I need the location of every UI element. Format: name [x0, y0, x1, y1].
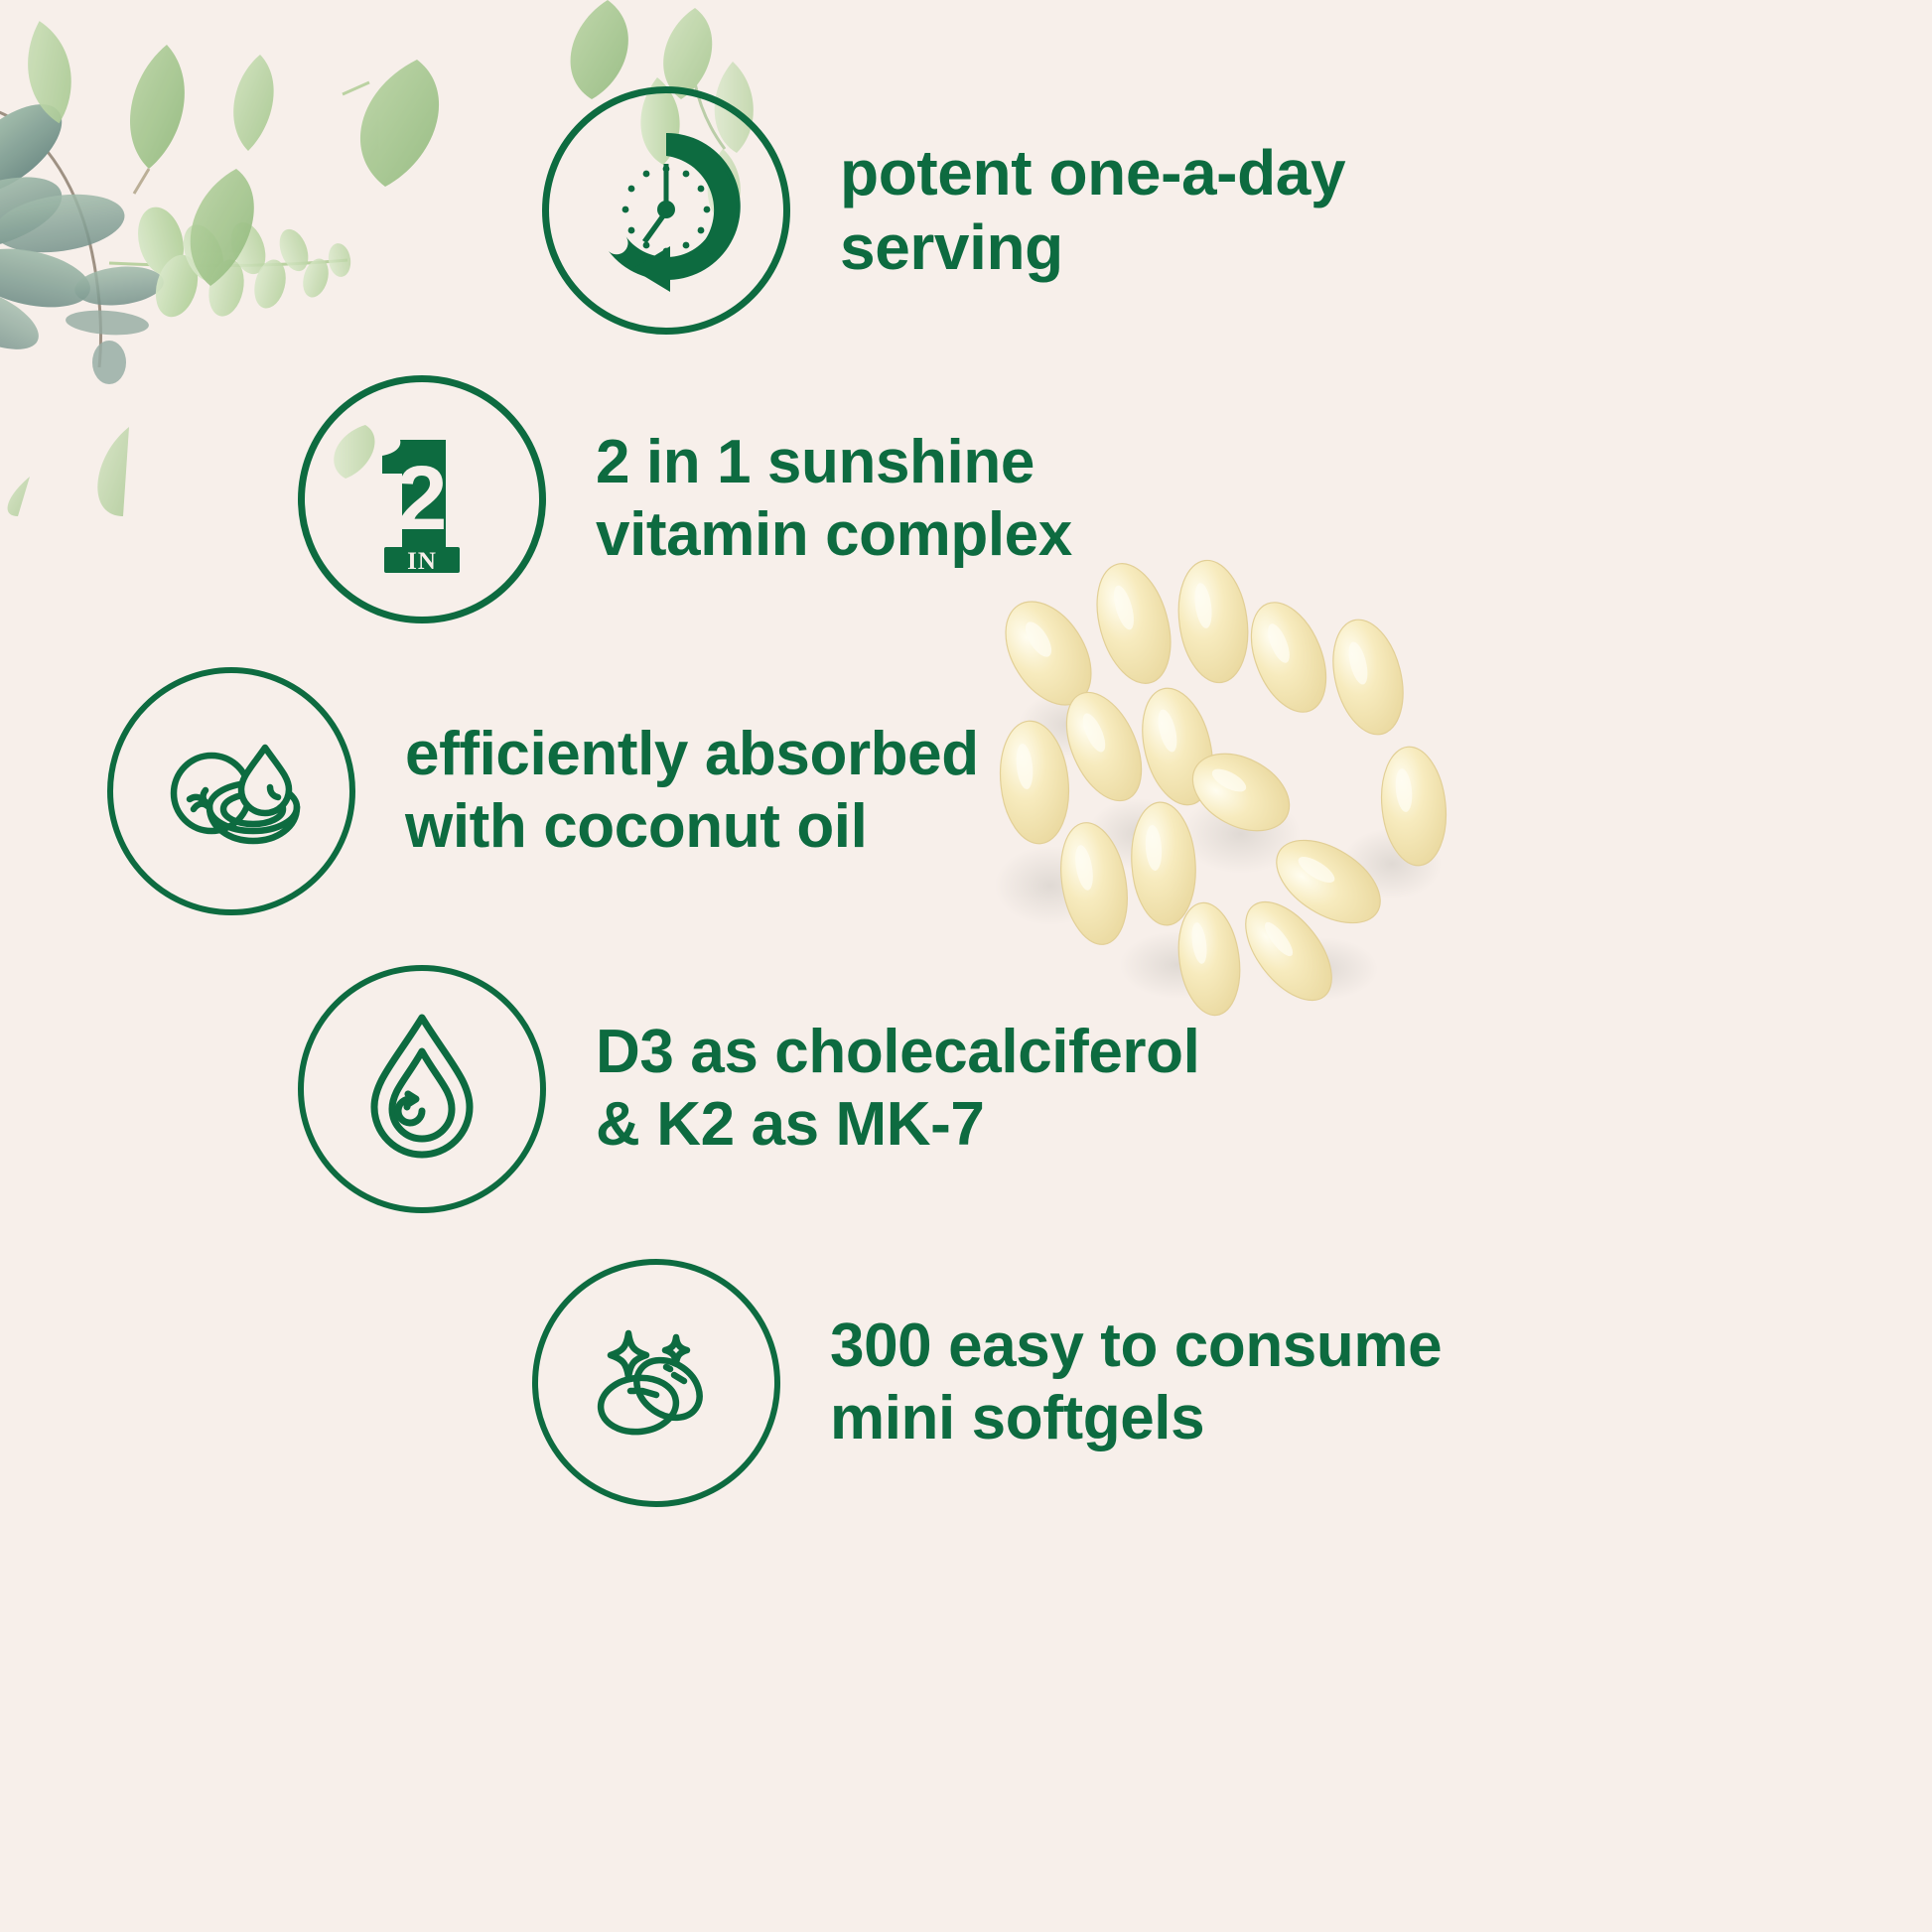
feature-row-d3-k2: D3 as cholecalciferol & K2 as MK-7 — [298, 965, 1199, 1213]
feature-row-mini-softgels: 300 easy to consume mini softgels — [532, 1259, 1442, 1507]
two-in-one-icon: 2 IN — [298, 375, 546, 623]
feature-label: 300 easy to consume mini softgels — [830, 1311, 1442, 1454]
feature-label: D3 as cholecalciferol & K2 as MK-7 — [596, 1017, 1199, 1161]
sparkling-softgels-icon — [532, 1259, 780, 1507]
two-in-one-in-label: IN — [407, 548, 437, 575]
droplet-spiral-icon — [298, 965, 546, 1213]
svg-text:2: 2 — [396, 448, 447, 549]
product-benefits-infographic: potent one-a-day serving 2 IN 2 in 1 sun… — [0, 0, 1932, 1932]
feature-label: 2 in 1 sunshine vitamin complex — [596, 427, 1072, 571]
feature-label: potent one-a-day serving — [840, 136, 1345, 285]
feature-row-coconut-oil: efficiently absorbed with coconut oil — [107, 667, 979, 915]
feature-label: efficiently absorbed with coconut oil — [405, 719, 979, 863]
feature-row-one-a-day: potent one-a-day serving — [542, 86, 1345, 335]
feature-row-two-in-one: 2 IN 2 in 1 sunshine vitamin complex — [298, 375, 1072, 623]
coconut-oil-droplet-icon — [107, 667, 355, 915]
clock-one-a-day-icon — [542, 86, 790, 335]
